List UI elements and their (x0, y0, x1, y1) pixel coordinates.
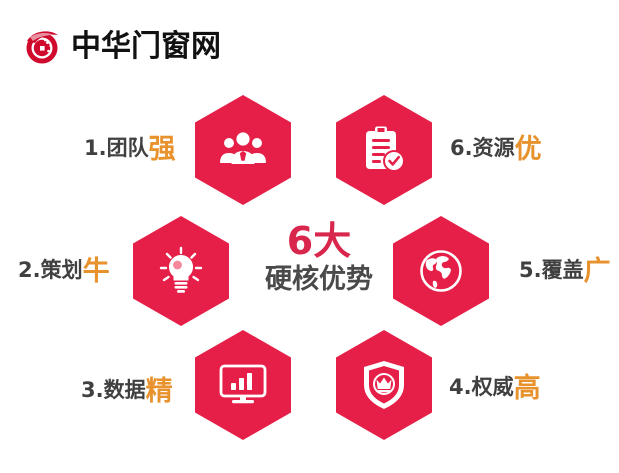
center-subhead: 硬核优势 (248, 266, 390, 293)
globe-earth-icon (418, 248, 464, 294)
advantage-label-2: 2.策划牛 (18, 258, 110, 285)
advantage-text-1: 团队 (107, 136, 149, 160)
advantage-label-1: 1.团队强 (84, 136, 176, 163)
advantage-text-4: 权威 (472, 375, 514, 399)
advantage-label-4: 4.权威高 (449, 375, 541, 402)
hex-tile-coverage[interactable] (393, 216, 489, 326)
advantage-accent-6: 优 (515, 134, 542, 165)
advantage-text-5: 覆盖 (542, 258, 584, 282)
advantage-text-2: 策划 (41, 258, 83, 282)
advantage-label-5: 5.覆盖广 (519, 258, 611, 285)
brand-name: 中华门窗网 (71, 32, 221, 62)
hex-tile-authority[interactable] (336, 330, 432, 440)
advantage-accent-5: 广 (584, 256, 611, 287)
clipboard-check-icon (362, 126, 406, 174)
advantage-text-3: 数据 (104, 378, 146, 402)
advantage-index-5: 5. (519, 258, 542, 282)
team-people-icon (218, 130, 268, 170)
hex-tile-data[interactable] (195, 330, 291, 440)
advantage-accent-2: 牛 (83, 256, 110, 287)
hex-tile-planning[interactable] (133, 216, 229, 326)
shield-crown-icon (362, 360, 406, 410)
advantage-accent-1: 强 (149, 134, 176, 165)
advantage-accent-3: 精 (146, 376, 173, 407)
advantage-accent-4: 高 (514, 373, 541, 404)
advantage-index-6: 6. (450, 136, 473, 160)
swirl-emblem-icon (20, 25, 64, 69)
advantage-text-6: 资源 (473, 136, 515, 160)
monitor-bar-chart-icon (218, 363, 268, 407)
center-headline: 6大 (248, 222, 390, 260)
brand-logo: 中华门窗网 (20, 25, 221, 69)
infographic-canvas: 中华门窗网 (0, 0, 619, 473)
center-headline-block: 6大 硬核优势 (248, 222, 390, 293)
advantage-index-1: 1. (84, 136, 107, 160)
advantage-index-3: 3. (81, 378, 104, 402)
advantage-label-3: 3.数据精 (81, 378, 173, 405)
hex-tile-resources[interactable] (336, 95, 432, 205)
advantage-index-4: 4. (449, 375, 472, 399)
advantage-index-2: 2. (18, 258, 41, 282)
lightbulb-idea-icon (157, 246, 205, 296)
hex-tile-team[interactable] (195, 95, 291, 205)
advantage-label-6: 6.资源优 (450, 136, 542, 163)
